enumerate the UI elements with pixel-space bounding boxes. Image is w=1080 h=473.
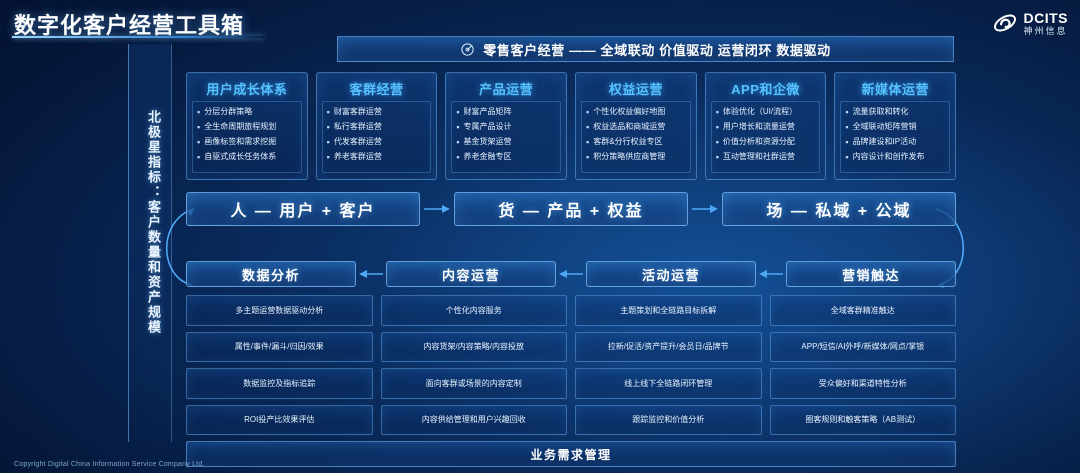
bullet-icon: ▪ (327, 106, 330, 118)
card-body: ▪分层分群策略 ▪全生命周期旅程规划 ▪画像标签和需求挖掘 ▪自驱式成长任务体系 (192, 101, 302, 173)
list-item-label: 客群&分行权益专区 (593, 136, 662, 148)
list-item-label: 财富产品矩阵 (464, 106, 512, 118)
pillar-header[interactable]: 营销触达 (786, 261, 956, 287)
list-item: ▪流量获取和转化 (845, 106, 946, 118)
dcits-swirl-icon (992, 10, 1018, 36)
card-title: 用户成长体系 (192, 77, 302, 101)
list-item: ▪全域联动矩阵营销 (845, 121, 946, 133)
list-item: ▪私行客群运营 (327, 121, 428, 133)
arrow-right-icon (688, 203, 722, 215)
title-underline (12, 36, 264, 38)
list-item-label: 品牌建设和IP活动 (853, 136, 917, 148)
list-item-label: 养老客群运营 (334, 151, 382, 163)
capability-card[interactable]: 产品运营 ▪财富产品矩阵 ▪专属产品设计 ▪基金货架运营 ▪养老金融专区 (445, 72, 567, 180)
capability-card-row: 用户成长体系 ▪分层分群策略 ▪全生命周期旅程规划 ▪画像标签和需求挖掘 ▪自驱… (186, 72, 956, 180)
bottom-bar[interactable]: 业务需求管理 (186, 441, 956, 467)
bullet-icon: ▪ (845, 151, 848, 163)
list-item-label: 基金货架运营 (464, 136, 512, 148)
copyright-text: Copyright Digital China Information Serv… (14, 461, 205, 468)
list-item-label: 用户增长和流量运营 (723, 121, 795, 133)
value-flow-row: 人 — 用户 + 客户 货 — 产品 + 权益 场 — 私域 + 公域 (186, 192, 956, 226)
card-body: ▪财富产品矩阵 ▪专属产品设计 ▪基金货架运营 ▪养老金融专区 (451, 101, 561, 173)
bullet-icon: ▪ (456, 151, 459, 163)
list-item: ▪体验优化（UI/流程） (716, 106, 817, 118)
list-item: ▪个性化权益偏好地图 (586, 106, 687, 118)
grid-cell[interactable]: 多主题运营数据驱动分析 (186, 295, 373, 326)
card-body: ▪流量获取和转化 ▪全域联动矩阵营销 ▪品牌建设和IP活动 ▪内容设计和创作发布 (840, 101, 950, 173)
bullet-icon: ▪ (716, 106, 719, 118)
grid-cell[interactable]: 拉新/促活/资产提升/会员日/品牌节 (575, 332, 762, 363)
list-item: ▪价值分析和资源分配 (716, 136, 817, 148)
pillar-header[interactable]: 内容运营 (386, 261, 556, 287)
list-item: ▪基金货架运营 (456, 136, 557, 148)
pillar-column: 个性化内容服务 内容货架/内容策略/内容投放 面向客群或场景的内容定制 内容供给… (381, 295, 568, 435)
bullet-icon: ▪ (716, 151, 719, 163)
list-item: ▪养老金融专区 (456, 151, 557, 163)
target-compass-icon (460, 42, 475, 57)
list-item: ▪品牌建设和IP活动 (845, 136, 946, 148)
list-item-label: 专属产品设计 (464, 121, 512, 133)
card-body: ▪体验优化（UI/流程） ▪用户增长和流量运营 ▪价值分析和资源分配 ▪互动管理… (711, 101, 821, 173)
list-item: ▪积分策略供应商管理 (586, 151, 687, 163)
brand-logo: DCITS 神州信息 (992, 10, 1069, 36)
card-title: 客群经营 (322, 77, 432, 101)
capability-card[interactable]: 客群经营 ▪财富客群运营 ▪私行客群运营 ▪代发客群运营 ▪养老客群运营 (316, 72, 438, 180)
bullet-icon: ▪ (197, 121, 200, 133)
list-item-label: 个性化权益偏好地图 (593, 106, 665, 118)
bullet-icon: ▪ (327, 121, 330, 133)
list-item: ▪用户增长和流量运营 (716, 121, 817, 133)
card-title: 产品运营 (451, 77, 561, 101)
list-item-label: 价值分析和资源分配 (723, 136, 795, 148)
arrow-left-icon (356, 268, 386, 280)
grid-cell[interactable]: 内容货架/内容策略/内容投放 (381, 332, 568, 363)
list-item-label: 分层分群策略 (204, 106, 252, 118)
bullet-icon: ▪ (586, 106, 589, 118)
card-body: ▪个性化权益偏好地图 ▪权益选品和商城运营 ▪客群&分行权益专区 ▪积分策略供应… (581, 101, 691, 173)
bullet-icon: ▪ (845, 121, 848, 133)
pillar-header[interactable]: 数据分析 (186, 261, 356, 287)
list-item: ▪客群&分行权益专区 (586, 136, 687, 148)
list-item-label: 财富客群运营 (334, 106, 382, 118)
bullet-icon: ▪ (586, 121, 589, 133)
list-item-label: 体验优化（UI/流程） (723, 106, 797, 118)
grid-cell[interactable]: 内容供给管理和用户兴趣回收 (381, 405, 568, 436)
bullet-icon: ▪ (197, 151, 200, 163)
card-title: APP和企微 (711, 77, 821, 101)
pillar-column: 全域客群精准触达 APP/短信/AI外呼/新媒体/网点/掌银 受众偏好和渠道特性… (770, 295, 957, 435)
bullet-icon: ▪ (845, 136, 848, 148)
grid-cell[interactable]: 线上线下全链路闭环管理 (575, 368, 762, 399)
bullet-icon: ▪ (327, 151, 330, 163)
pillar-header[interactable]: 活动运营 (586, 261, 756, 287)
bullet-icon: ▪ (197, 136, 200, 148)
card-body: ▪财富客群运营 ▪私行客群运营 ▪代发客群运营 ▪养老客群运营 (322, 101, 432, 173)
grid-cell[interactable]: 主题策划和全链路目标拆解 (575, 295, 762, 326)
pillar-grid: 多主题运营数据驱动分析 属性/事件/漏斗/归因/效果 数据监控及指标追踪 ROI… (186, 295, 956, 435)
list-item: ▪内容设计和创作发布 (845, 151, 946, 163)
list-item-label: 画像标签和需求挖掘 (204, 136, 276, 148)
grid-cell[interactable]: 受众偏好和渠道特性分析 (770, 368, 957, 399)
list-item: ▪养老客群运营 (327, 151, 428, 163)
logo-text-en: DCITS (1024, 11, 1069, 25)
capability-card[interactable]: APP和企微 ▪体验优化（UI/流程） ▪用户增长和流量运营 ▪价值分析和资源分… (705, 72, 827, 180)
grid-cell[interactable]: ROI投产比效果评估 (186, 405, 373, 436)
list-item-label: 权益选品和商城运营 (593, 121, 665, 133)
flow-step[interactable]: 货 — 产品 + 权益 (454, 192, 688, 226)
capability-card[interactable]: 新媒体运营 ▪流量获取和转化 ▪全域联动矩阵营销 ▪品牌建设和IP活动 ▪内容设… (834, 72, 956, 180)
list-item-label: 流量获取和转化 (853, 106, 909, 118)
list-item: ▪代发客群运营 (327, 136, 428, 148)
grid-cell[interactable]: APP/短信/AI外呼/新媒体/网点/掌银 (770, 332, 957, 363)
flow-step[interactable]: 人 — 用户 + 客户 (186, 192, 420, 226)
arrow-left-icon (756, 268, 786, 280)
bullet-icon: ▪ (197, 106, 200, 118)
list-item-label: 代发客群运营 (334, 136, 382, 148)
logo-text-cn: 神州信息 (1024, 27, 1069, 36)
flow-step[interactable]: 场 — 私域 + 公域 (722, 192, 956, 226)
pillar-column: 多主题运营数据驱动分析 属性/事件/漏斗/归因/效果 数据监控及指标追踪 ROI… (186, 295, 373, 435)
list-item: ▪权益选品和商城运营 (586, 121, 687, 133)
pillar-column: 主题策划和全链路目标拆解 拉新/促活/资产提升/会员日/品牌节 线上线下全链路闭… (575, 295, 762, 435)
arrow-right-icon (420, 203, 454, 215)
list-item: ▪自驱式成长任务体系 (197, 151, 298, 163)
list-item: ▪画像标签和需求挖掘 (197, 136, 298, 148)
list-item-label: 自驱式成长任务体系 (204, 151, 276, 163)
bullet-icon: ▪ (456, 121, 459, 133)
grid-cell[interactable]: 数据监控及指标追踪 (186, 368, 373, 399)
list-item-label: 内容设计和创作发布 (853, 151, 925, 163)
slide-canvas: 数字化客户经营工具箱 DCITS 神州信息 北极星指标：客户数量和资产规模 零售… (0, 0, 1080, 473)
bullet-icon: ▪ (586, 151, 589, 163)
arrow-left-icon (556, 268, 586, 280)
list-item: ▪专属产品设计 (456, 121, 557, 133)
pillar-header-row: 数据分析 内容运营 活动运营 营销触达 (186, 261, 956, 287)
card-title: 新媒体运营 (840, 77, 950, 101)
banner-text: 零售客户经营 —— 全域联动 价值驱动 运营闭环 数据驱动 (483, 40, 830, 59)
list-item: ▪全生命周期旅程规划 (197, 121, 298, 133)
grid-cell[interactable]: 全域客群精准触达 (770, 295, 957, 326)
list-item: ▪分层分群策略 (197, 106, 298, 118)
list-item: ▪财富客群运营 (327, 106, 428, 118)
bullet-icon: ▪ (456, 106, 459, 118)
grid-cell[interactable]: 跟踪监控和价值分析 (575, 405, 762, 436)
list-item-label: 全生命周期旅程规划 (204, 121, 276, 133)
bullet-icon: ▪ (456, 136, 459, 148)
list-item: ▪互动管理和社群运营 (716, 151, 817, 163)
card-title: 权益运营 (581, 77, 691, 101)
bullet-icon: ▪ (716, 136, 719, 148)
grid-cell[interactable]: 面向客群或场景的内容定制 (381, 368, 568, 399)
list-item-label: 私行客群运营 (334, 121, 382, 133)
bullet-icon: ▪ (716, 121, 719, 133)
grid-cell[interactable]: 属性/事件/漏斗/归因/效果 (186, 332, 373, 363)
bullet-icon: ▪ (845, 106, 848, 118)
list-item-label: 养老金融专区 (464, 151, 512, 163)
grid-cell[interactable]: 个性化内容服务 (381, 295, 568, 326)
bullet-icon: ▪ (327, 136, 330, 148)
grid-cell[interactable]: 圈客规则和触客策略（AB测试） (770, 405, 957, 436)
bullet-icon: ▪ (586, 136, 589, 148)
top-banner: 零售客户经营 —— 全域联动 价值驱动 运营闭环 数据驱动 (337, 36, 954, 62)
capability-card[interactable]: 权益运营 ▪个性化权益偏好地图 ▪权益选品和商城运营 ▪客群&分行权益专区 ▪积… (575, 72, 697, 180)
list-item-label: 互动管理和社群运营 (723, 151, 795, 163)
list-item-label: 全域联动矩阵营销 (853, 121, 917, 133)
capability-card[interactable]: 用户成长体系 ▪分层分群策略 ▪全生命周期旅程规划 ▪画像标签和需求挖掘 ▪自驱… (186, 72, 308, 180)
list-item-label: 积分策略供应商管理 (593, 151, 665, 163)
north-star-label: 北极星指标：客户数量和资产规模 (138, 110, 162, 335)
list-item: ▪财富产品矩阵 (456, 106, 557, 118)
